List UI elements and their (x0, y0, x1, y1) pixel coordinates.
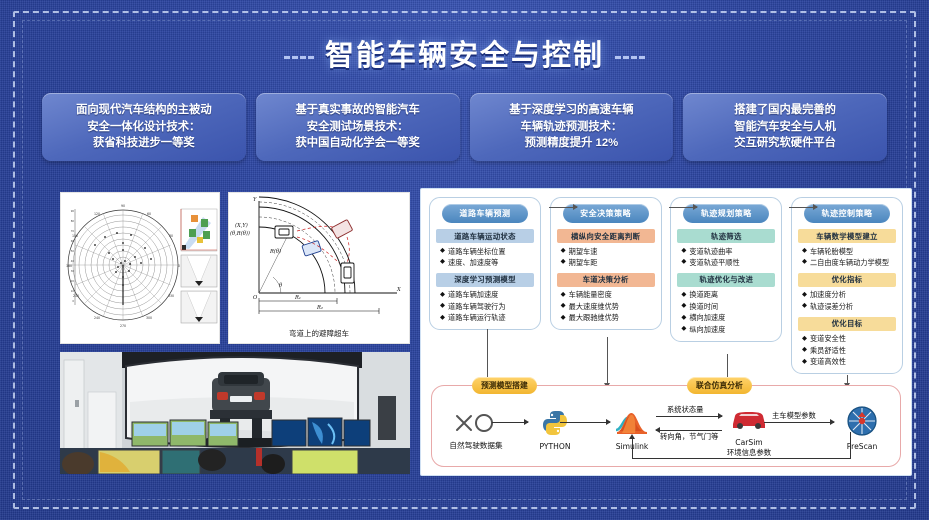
svg-text:R(θ): R(θ) (269, 248, 281, 255)
strategy-column-safety-decision[interactable]: 安全决策策略 横纵向安全距离判断 ◆期望车速 ◆期望车距 车道决策分析 ◆车辆能… (550, 197, 662, 330)
highlight-card-1-text: 面向现代汽车结构的主被动 安全一体化设计技术： 获省科技进步一等奖 (76, 102, 212, 152)
svg-text:10: 10 (71, 289, 75, 293)
connector-col4-sim (847, 375, 848, 383)
diamond-bullet-icon: ◆ (561, 247, 566, 255)
svg-text:0: 0 (178, 264, 180, 268)
python-icon (542, 410, 568, 436)
diamond-bullet-icon: ◆ (440, 314, 445, 322)
svg-text:0: 0 (72, 299, 74, 303)
svg-text:20: 20 (71, 279, 75, 283)
column-1-group-2-list: ◆道路车辆加速度 ◆道路车辆驾驶行为 ◆道路车辆运行轨迹 (434, 290, 536, 324)
list-item: ◆最大速度维优势 (555, 301, 657, 312)
column-2-group-2-list: ◆车辆能量密度 ◆最大速度维优势 ◆最大跟驰维优势 (555, 290, 657, 324)
simulink-icon (615, 408, 649, 436)
line-carsim-to-prescan (764, 422, 834, 423)
diamond-bullet-icon: ◆ (681, 291, 686, 299)
list-item: ◆换道时间 (675, 301, 777, 312)
line-feedback-left (632, 438, 633, 459)
column-4-group-3-list: ◆变道安全性 ◆乘员舒适性 ◆变道高效性 (796, 334, 898, 368)
svg-text:330: 330 (168, 294, 174, 298)
tag-prediction-model-build: 预测模型搭建 (472, 377, 537, 394)
list-item: ◆加速度分析 (796, 290, 898, 301)
curve-overtaking-svg: Y X O (X,Y) (θ,R(θ)) R(θ) θ R₁ R₂ (229, 193, 409, 321)
node-prescan[interactable]: PreScan (830, 406, 894, 451)
strategy-column-row: 道路车辆预测 道路车辆运动状态 ◆道路车辆坐标位置 ◆速度、加速度等 深度学习预… (429, 197, 903, 383)
line-feedback-right (850, 432, 851, 459)
column-3-group-2-list: ◆换道距离 ◆换道时间 ◆横向加速度 ◆纵向加速度 (675, 290, 777, 336)
prescan-icon (847, 406, 877, 436)
list-item: ◆变道轨迹曲率 (675, 246, 777, 257)
driving-simulator-svg (60, 352, 410, 474)
svg-text:40: 40 (71, 259, 75, 263)
diamond-bullet-icon: ◆ (561, 291, 566, 299)
diamond-bullet-icon: ◆ (440, 302, 445, 310)
list-item-text: 期望车距 (569, 258, 655, 268)
highlight-card-row: 面向现代汽车结构的主被动 安全一体化设计技术： 获省科技进步一等奖 基于真实事故… (42, 93, 887, 161)
list-item-text: 纵向加速度 (689, 325, 775, 335)
highlight-card-3[interactable]: 基于深度学习的高速车辆 车辆轨迹预测技术： 预测精度提升 12% (470, 93, 674, 161)
list-item: ◆速度、加速度等 (434, 257, 536, 268)
diamond-bullet-icon: ◆ (681, 247, 686, 255)
list-item: ◆车辆能量密度 (555, 290, 657, 301)
line-simulink-to-carsim (656, 416, 722, 417)
feedback-arrowhead (629, 434, 635, 439)
list-item-text: 二自由度车辆动力学模型 (810, 258, 896, 268)
column-4-group-2-list: ◆加速度分析 ◆轨迹误差分析 (796, 290, 898, 313)
list-item-text: 变道轨迹曲率 (689, 247, 775, 257)
diamond-bullet-icon: ◆ (681, 325, 686, 333)
list-item-text: 车辆轮胎模型 (810, 247, 896, 257)
svg-text:30: 30 (169, 234, 173, 238)
diamond-bullet-icon: ◆ (681, 302, 686, 310)
line-dataset-to-python (492, 422, 528, 423)
svg-text:60: 60 (71, 239, 75, 243)
diamond-bullet-icon: ◆ (802, 258, 807, 266)
line-python-to-simulink (560, 422, 610, 423)
list-item: ◆乘员舒适性 (796, 345, 898, 356)
highlight-card-2-text: 基于真实事故的智能汽车 安全测试场景技术： 获中国自动化学会一等奖 (295, 102, 419, 152)
svg-text:R₂: R₂ (316, 305, 323, 311)
node-python-label: PYTHON (526, 442, 584, 451)
highlight-card-1[interactable]: 面向现代汽车结构的主被动 安全一体化设计技术： 获省科技进步一等奖 (42, 93, 246, 161)
column-1-group-1-list: ◆道路车辆坐标位置 ◆速度、加速度等 (434, 246, 536, 269)
column-4-group-2-header: 优化指标 (798, 273, 896, 287)
column-3-group-1-list: ◆变道轨迹曲率 ◆变道轨迹平顺性 (675, 246, 777, 269)
strategy-column-road-vehicle-prediction[interactable]: 道路车辆预测 道路车辆运动状态 ◆道路车辆坐标位置 ◆速度、加速度等 深度学习预… (429, 197, 541, 330)
list-item: ◆横向加速度 (675, 313, 777, 324)
figure-radar-polar-plot: 9012060 15030 1800 210330 240300 270 908… (60, 192, 220, 344)
diamond-bullet-icon: ◆ (802, 346, 807, 354)
connector-col1-col2 (549, 207, 577, 208)
figure-driving-simulator-photo (60, 352, 410, 474)
svg-text:30: 30 (71, 269, 75, 273)
connector-col3-col4 (789, 207, 817, 208)
list-item-text: 换道时间 (689, 302, 775, 312)
highlight-card-3-text: 基于深度学习的高速车辆 车辆轨迹预测技术： 预测精度提升 12% (509, 102, 633, 152)
svg-text:(X,Y): (X,Y) (235, 222, 248, 229)
label-host-vehicle-params: 主车模型参数 (772, 411, 816, 421)
strategy-column-trajectory-control[interactable]: 轨迹控制策略 车辆数学模型建立 ◆车辆轮胎模型 ◆二自由度车辆动力学模型 优化指… (791, 197, 903, 374)
list-item: ◆道路车辆驾驶行为 (434, 301, 536, 312)
svg-text:80: 80 (71, 219, 75, 223)
list-item: ◆道路车辆运行轨迹 (434, 313, 536, 324)
list-item-text: 变道高效性 (810, 357, 896, 367)
dataset-icon (453, 412, 499, 434)
list-item: ◆纵向加速度 (675, 324, 777, 335)
diamond-bullet-icon: ◆ (802, 291, 807, 299)
svg-text:90: 90 (71, 209, 75, 213)
node-carsim-label: CarSim (714, 438, 784, 447)
list-item: ◆二自由度车辆动力学模型 (796, 257, 898, 268)
carsim-icon (729, 406, 769, 432)
node-natural-driving-dataset[interactable]: 自然驾驶数据集 (440, 412, 512, 451)
node-prescan-label: PreScan (830, 442, 894, 451)
list-item-text: 变道轨迹平顺性 (689, 258, 775, 268)
figure-curve-overtaking: Y X O (X,Y) (θ,R(θ)) R(θ) θ R₁ R₂ 弯道上的避障… (228, 192, 410, 344)
list-item-text: 最大跟驰维优势 (569, 313, 655, 323)
diamond-bullet-icon: ◆ (561, 314, 566, 322)
list-item: ◆期望车速 (555, 246, 657, 257)
list-item: ◆变道轨迹平顺性 (675, 257, 777, 268)
svg-text:240: 240 (94, 316, 100, 320)
list-item: ◆最大跟驰维优势 (555, 313, 657, 324)
methodology-flow-panel: 道路车辆预测 道路车辆运动状态 ◆道路车辆坐标位置 ◆速度、加速度等 深度学习预… (420, 188, 912, 476)
strategy-column-trajectory-planning[interactable]: 轨迹规划策略 轨迹筛选 ◆变道轨迹曲率 ◆变道轨迹平顺性 轨迹优化与改进 ◆换道… (670, 197, 782, 342)
svg-text:180: 180 (66, 264, 72, 268)
column-4-group-1-list: ◆车辆轮胎模型 ◆二自由度车辆动力学模型 (796, 246, 898, 269)
column-4-group-1-header: 车辆数学模型建立 (798, 229, 896, 243)
cosimulation-block: 预测模型搭建 联合仿真分析 自然驾驶数据集 PYTHON (431, 385, 901, 467)
diamond-bullet-icon: ◆ (802, 302, 807, 310)
page-title: 智能车辆安全与控制 (0, 32, 929, 74)
list-item-text: 最大速度维优势 (569, 302, 655, 312)
list-item-text: 加速度分析 (810, 290, 896, 300)
label-system-state: 系统状态量 (667, 405, 703, 415)
list-item-text: 道路车辆驾驶行为 (448, 302, 534, 312)
diamond-bullet-icon: ◆ (561, 302, 566, 310)
list-item-text: 道路车辆加速度 (448, 290, 534, 300)
svg-text:O: O (253, 295, 258, 301)
column-2-group-1-header: 横纵向安全距离判断 (557, 229, 655, 243)
diamond-bullet-icon: ◆ (802, 358, 807, 366)
list-item-text: 期望车速 (569, 247, 655, 257)
list-item-text: 道路车辆坐标位置 (448, 247, 534, 257)
list-item: ◆轨迹误差分析 (796, 301, 898, 312)
connector-col2-col3 (669, 207, 697, 208)
figure-curve-caption: 弯道上的避障超车 (229, 328, 409, 339)
column-1-header: 道路车辆预测 (442, 204, 528, 223)
svg-text:70: 70 (71, 229, 75, 233)
svg-text:90: 90 (121, 204, 125, 208)
diamond-bullet-icon: ◆ (681, 314, 686, 322)
list-item: ◆变道安全性 (796, 334, 898, 345)
list-item: ◆车辆轮胎模型 (796, 246, 898, 257)
column-1-group-2-header: 深度学习预测模型 (436, 273, 534, 287)
svg-text:θ: θ (279, 283, 283, 289)
svg-text:Y: Y (253, 197, 257, 203)
diamond-bullet-icon: ◆ (802, 247, 807, 255)
svg-text:120: 120 (94, 212, 100, 216)
list-item: ◆变道高效性 (796, 357, 898, 368)
connector-col1-sim (487, 329, 488, 383)
svg-text:300: 300 (146, 316, 152, 320)
connector-col2-sim (607, 337, 608, 383)
list-item-text: 换道距离 (689, 290, 775, 300)
column-3-group-2-header: 轨迹优化与改进 (677, 273, 775, 287)
list-item: ◆期望车距 (555, 257, 657, 268)
diamond-bullet-icon: ◆ (440, 258, 445, 266)
node-carsim-sublabel: 环境信息参数 (714, 447, 784, 458)
list-item-text: 轨迹误差分析 (810, 302, 896, 312)
node-dataset-label: 自然驾驶数据集 (440, 440, 512, 451)
svg-text:X: X (396, 287, 401, 293)
highlight-card-4-text: 搭建了国内最完善的 智能汽车安全与人机 交互研究软硬件平台 (734, 102, 836, 152)
list-item: ◆道路车辆加速度 (434, 290, 536, 301)
label-steering-throttle: 转向角，节气门等 (660, 432, 718, 442)
title-dash-left (284, 56, 314, 59)
column-2-group-2-header: 车道决策分析 (557, 273, 655, 287)
tag-cosimulation-analysis: 联合仿真分析 (687, 377, 752, 394)
svg-text:210: 210 (73, 294, 79, 298)
column-3-group-1-header: 轨迹筛选 (677, 229, 775, 243)
line-feedback-bottom (632, 458, 850, 459)
line-carsim-to-simulink (656, 430, 722, 431)
diamond-bullet-icon: ◆ (802, 335, 807, 343)
list-item-text: 乘员舒适性 (810, 346, 896, 356)
svg-text:(θ,R(θ)): (θ,R(θ)) (230, 230, 250, 237)
svg-text:R₁: R₁ (294, 295, 301, 301)
column-1-group-1-header: 道路车辆运动状态 (436, 229, 534, 243)
svg-text:270: 270 (120, 324, 126, 328)
diamond-bullet-icon: ◆ (440, 291, 445, 299)
highlight-card-4[interactable]: 搭建了国内最完善的 智能汽车安全与人机 交互研究软硬件平台 (683, 93, 887, 161)
title-dash-right (615, 56, 645, 59)
column-4-group-3-header: 优化目标 (798, 317, 896, 331)
list-item-text: 速度、加速度等 (448, 258, 534, 268)
diamond-bullet-icon: ◆ (681, 258, 686, 266)
svg-text:50: 50 (71, 249, 75, 253)
list-item: ◆换道距离 (675, 290, 777, 301)
column-2-group-1-list: ◆期望车速 ◆期望车距 (555, 246, 657, 269)
list-item: ◆道路车辆坐标位置 (434, 246, 536, 257)
highlight-card-2[interactable]: 基于真实事故的智能汽车 安全测试场景技术： 获中国自动化学会一等奖 (256, 93, 460, 161)
diamond-bullet-icon: ◆ (440, 247, 445, 255)
list-item-text: 车辆能量密度 (569, 290, 655, 300)
list-item-text: 变道安全性 (810, 334, 896, 344)
list-item-text: 横向加速度 (689, 313, 775, 323)
radar-polar-svg: 9012060 15030 1800 210330 240300 270 908… (61, 193, 219, 343)
list-item-text: 道路车辆运行轨迹 (448, 313, 534, 323)
diamond-bullet-icon: ◆ (561, 258, 566, 266)
node-python[interactable]: PYTHON (526, 410, 584, 451)
svg-text:60: 60 (147, 212, 151, 216)
